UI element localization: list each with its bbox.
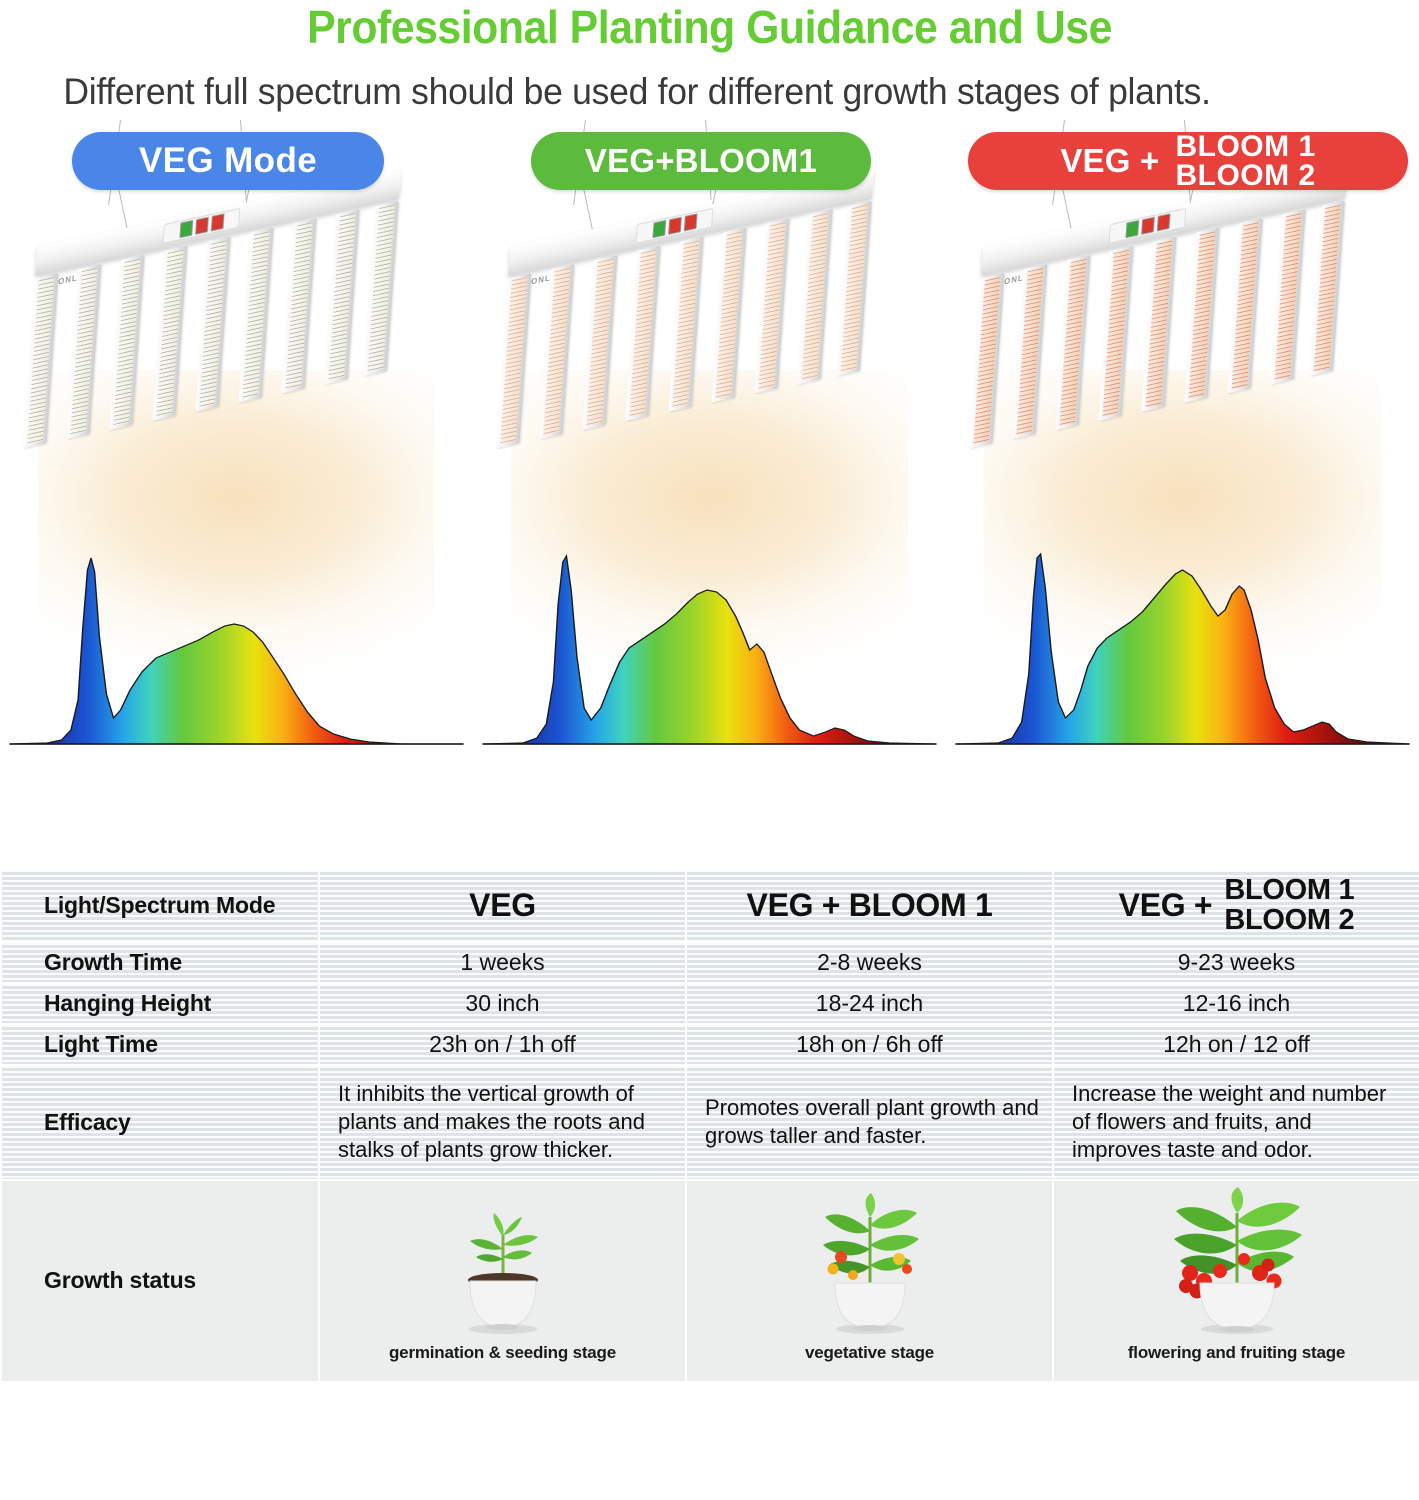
header: Professional Planting Guidance and Use D… (0, 0, 1419, 116)
led-fixture-veg-bloom1: SONLIPO (481, 202, 901, 432)
page-title: Professional Planting Guidance and Use (50, 2, 1370, 54)
mode-panel-veg-bloom1: VEG+BLOOM1 SONLIPO (473, 120, 946, 780)
row-label-hanging-height: Hanging Height (1, 983, 319, 1024)
mode-badge-prefix: VEG + (1060, 142, 1159, 180)
indicator-switch-red-2[interactable] (1156, 213, 1170, 231)
growth-status-veg-bloom1: vegetative stage (686, 1180, 1053, 1382)
indicator-switch-green[interactable] (1125, 220, 1139, 238)
indicator-switch-green[interactable] (179, 220, 193, 238)
growth-status-caption-veg-bloom1-bloom2: flowering and fruiting stage (1128, 1343, 1345, 1363)
growth-status-caption-veg: germination & seeding stage (389, 1343, 616, 1363)
mode-badge-veg-bloom1-bloom2: VEG + BLOOM 1 BLOOM 2 (968, 132, 1408, 190)
page-subtitle: Different full spectrum should be used f… (0, 54, 1306, 116)
growth-time-veg: 1 weeks (319, 942, 686, 983)
row-label-light-time: Light Time (1, 1024, 319, 1065)
indicator-switch-red-1[interactable] (668, 216, 682, 234)
spectrum-chart-veg (0, 532, 473, 762)
spectrum-chart-veg-bloom1-bloom2 (946, 532, 1419, 762)
mode-header-prefix: VEG + (1119, 887, 1213, 924)
hanging-height-veg-bloom1-bloom2: 12-16 inch (1053, 983, 1419, 1024)
spectrum-chart-veg-bloom1 (473, 532, 946, 762)
table-row-efficacy: Efficacy It inhibits the vertical growth… (1, 1065, 1419, 1179)
mode-header-line2: BLOOM 2 (1224, 906, 1354, 936)
light-time-veg: 23h on / 1h off (319, 1024, 686, 1065)
fruiting-plant-image (1142, 1187, 1332, 1337)
mode-badge-line1: BLOOM 1 (1175, 132, 1315, 161)
row-label-growth-status: Growth status (1, 1180, 319, 1382)
mode-panel-veg-bloom1-bloom2: VEG + BLOOM 1 BLOOM 2 SONLIPO (946, 120, 1419, 780)
mode-badge-label: VEG+BLOOM1 (585, 142, 817, 180)
table-row-hanging-height: Hanging Height 30 inch 18-24 inch 12-16 … (1, 983, 1419, 1024)
table-row-light-time: Light Time 23h on / 1h off 18h on / 6h o… (1, 1024, 1419, 1065)
mode-header-veg-bloom1: VEG + BLOOM 1 (686, 869, 1053, 942)
vegetative-plant-image (775, 1187, 965, 1337)
growth-status-veg-bloom1-bloom2: flowering and fruiting stage (1053, 1180, 1419, 1382)
seedling-plant-image (408, 1187, 598, 1337)
indicator-switch-red-2[interactable] (210, 213, 224, 231)
table-row-growth-status: Growth status (1, 1180, 1419, 1382)
led-fixture-veg: SONLIPO (8, 202, 428, 432)
mode-badge-label: VEG Mode (139, 141, 317, 181)
row-label-spectrum-mode: Light/Spectrum Mode (1, 869, 319, 942)
row-label-growth-time: Growth Time (1, 942, 319, 983)
hanging-height-veg: 30 inch (319, 983, 686, 1024)
mode-header-veg: VEG (319, 869, 686, 942)
table-row-mode: Light/Spectrum Mode VEG VEG + BLOOM 1 VE… (1, 869, 1419, 942)
efficacy-veg-bloom1-bloom2: Increase the weight and number of flower… (1053, 1065, 1419, 1179)
efficacy-veg: It inhibits the vertical growth of plant… (319, 1065, 686, 1179)
row-label-efficacy: Efficacy (1, 1065, 319, 1179)
table-row-growth-time: Growth Time 1 weeks 2-8 weeks 9-23 weeks (1, 942, 1419, 983)
indicator-switch-green[interactable] (652, 220, 666, 238)
mode-panels: VEG Mode SONLIPO (0, 120, 1419, 780)
growth-time-veg-bloom1: 2-8 weeks (686, 942, 1053, 983)
indicator-switch-red-2[interactable] (683, 213, 697, 231)
led-fixture-veg-bloom1-bloom2: SONLIPO (954, 202, 1374, 432)
light-time-veg-bloom1: 18h on / 6h off (686, 1024, 1053, 1065)
mode-header-line1: BLOOM 1 (1224, 876, 1354, 906)
mode-badge-line2: BLOOM 2 (1175, 161, 1315, 190)
mode-badge-veg-bloom1: VEG+BLOOM1 (531, 132, 871, 190)
comparison-table: Light/Spectrum Mode VEG VEG + BLOOM 1 VE… (0, 868, 1419, 1383)
efficacy-veg-bloom1: Promotes overall plant growth and grows … (686, 1065, 1053, 1179)
indicator-switch-red-1[interactable] (1141, 216, 1155, 234)
growth-status-veg: germination & seeding stage (319, 1180, 686, 1382)
mode-panel-veg: VEG Mode SONLIPO (0, 120, 473, 780)
light-time-veg-bloom1-bloom2: 12h on / 12 off (1053, 1024, 1419, 1065)
mode-badge-veg: VEG Mode (72, 132, 384, 190)
growth-time-veg-bloom1-bloom2: 9-23 weeks (1053, 942, 1419, 983)
growth-status-caption-veg-bloom1: vegetative stage (805, 1343, 934, 1363)
hanging-height-veg-bloom1: 18-24 inch (686, 983, 1053, 1024)
indicator-switch-red-1[interactable] (195, 216, 209, 234)
mode-header-veg-bloom1-bloom2: VEG + BLOOM 1 BLOOM 2 (1053, 869, 1419, 942)
